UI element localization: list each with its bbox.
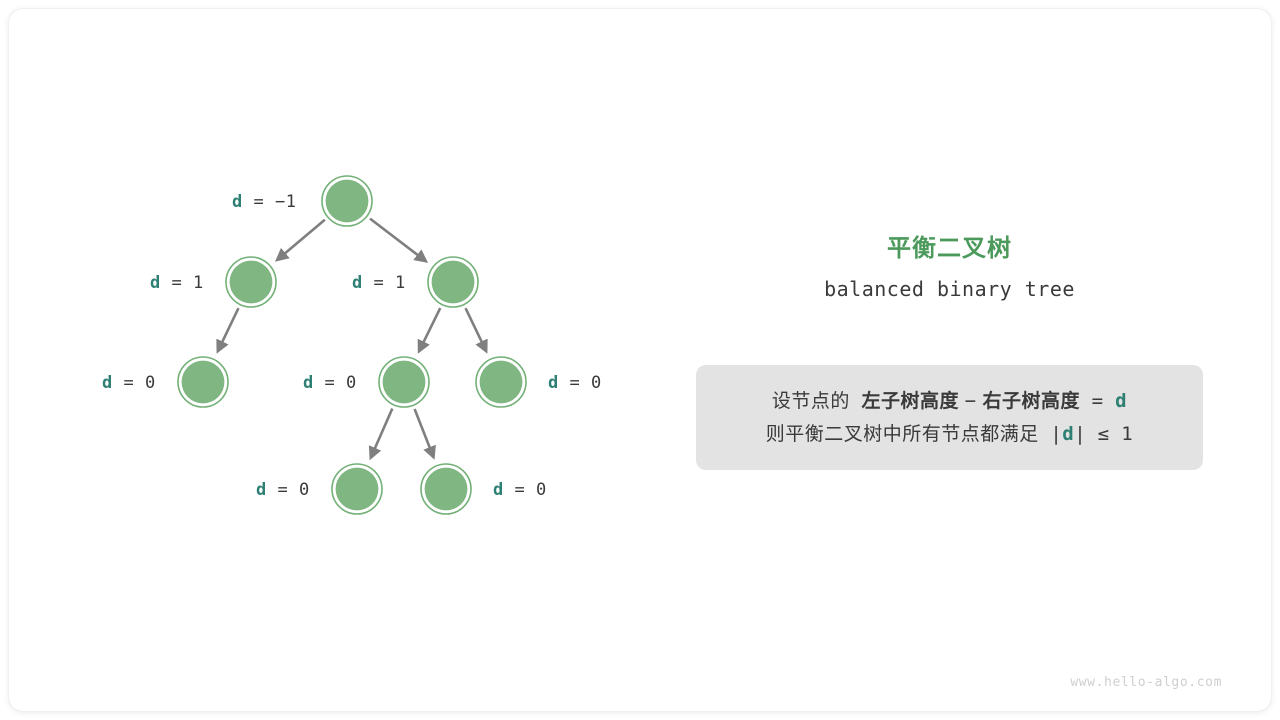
tree-node-disc xyxy=(182,361,225,404)
definition-line-1: 设节点的 左子树高度 − 右子树高度 = d xyxy=(772,385,1127,418)
tree-edge xyxy=(277,220,325,260)
tree-node xyxy=(379,357,429,407)
balance-factor-value: = 0 xyxy=(267,480,310,500)
tree-node-label: d = 0 xyxy=(548,373,602,393)
balance-factor-key: d xyxy=(303,373,314,393)
tree-node-disc xyxy=(425,468,468,511)
balance-factor-key: d xyxy=(548,373,559,393)
minus-operator: − xyxy=(965,390,977,412)
condition-prefix: 则平衡二叉树中所有节点都满足 xyxy=(766,424,1039,445)
definition-line-2: 则平衡二叉树中所有节点都满足 |d| ≤ 1 xyxy=(766,418,1133,451)
tree-node xyxy=(178,357,228,407)
abs-bar-open: | xyxy=(1050,423,1062,445)
tree-node-disc xyxy=(480,361,523,404)
less-equal-operator: ≤ xyxy=(1098,423,1110,445)
definition-right-subtree: 右子树高度 xyxy=(983,391,1081,412)
tree-edge xyxy=(371,409,393,458)
balance-factor-key: d xyxy=(256,480,267,500)
tree-edge xyxy=(370,219,426,262)
definition-prefix: 设节点的 xyxy=(772,391,850,412)
tree-node-label: d = 0 xyxy=(102,373,156,393)
tree-node-disc xyxy=(326,180,369,223)
tree-node-disc xyxy=(230,261,273,304)
binary-tree-diagram xyxy=(0,0,1280,720)
tree-edges xyxy=(218,219,487,458)
tree-node-disc xyxy=(336,468,379,511)
balance-factor-value: = 0 xyxy=(113,373,156,393)
balance-factor-key: d xyxy=(102,373,113,393)
balance-factor-value: = 1 xyxy=(161,273,204,293)
balance-factor-key: d xyxy=(493,480,504,500)
tree-edge xyxy=(415,409,434,457)
equals-operator: = xyxy=(1092,390,1104,412)
balance-factor-value: = −1 xyxy=(243,192,297,212)
tree-node-label: d = 1 xyxy=(352,273,406,293)
balance-factor-key: d xyxy=(352,273,363,293)
balance-factor-value: = 0 xyxy=(504,480,547,500)
tree-node xyxy=(428,257,478,307)
tree-node-disc xyxy=(383,361,426,404)
tree-edge xyxy=(466,308,487,351)
balance-factor-symbol: d xyxy=(1115,390,1127,412)
tree-node xyxy=(421,464,471,514)
balance-factor-key: d xyxy=(232,192,243,212)
tree-edge xyxy=(218,308,239,351)
balance-factor-symbol-2: d xyxy=(1062,423,1074,445)
tree-node xyxy=(332,464,382,514)
abs-bar-close: | xyxy=(1074,423,1086,445)
tree-node-label: d = 1 xyxy=(150,273,204,293)
tree-node xyxy=(322,176,372,226)
tree-node-disc xyxy=(432,261,475,304)
tree-edge xyxy=(419,308,440,351)
tree-nodes xyxy=(178,176,526,514)
balance-factor-key: d xyxy=(150,273,161,293)
screenshot-canvas: d = −1d = 1d = 1d = 0d = 0d = 0d = 0d = … xyxy=(0,0,1280,720)
threshold-value: 1 xyxy=(1121,423,1133,445)
definition-box: 设节点的 左子树高度 − 右子树高度 = d 则平衡二叉树中所有节点都满足 |d… xyxy=(696,365,1203,470)
tree-node xyxy=(476,357,526,407)
tree-node-label: d = 0 xyxy=(256,480,310,500)
page-title: 平衡二叉树 xyxy=(696,228,1203,263)
balance-factor-value: = 0 xyxy=(559,373,602,393)
tree-node-label: d = 0 xyxy=(303,373,357,393)
tree-node-label: d = 0 xyxy=(493,480,547,500)
balance-factor-value: = 0 xyxy=(314,373,357,393)
page-subtitle: balanced binary tree xyxy=(696,277,1203,301)
definition-left-subtree: 左子树高度 xyxy=(862,391,960,412)
tree-node xyxy=(226,257,276,307)
balance-factor-value: = 1 xyxy=(363,273,406,293)
site-watermark: www.hello-algo.com xyxy=(1070,675,1222,690)
tree-node-label: d = −1 xyxy=(232,192,296,212)
